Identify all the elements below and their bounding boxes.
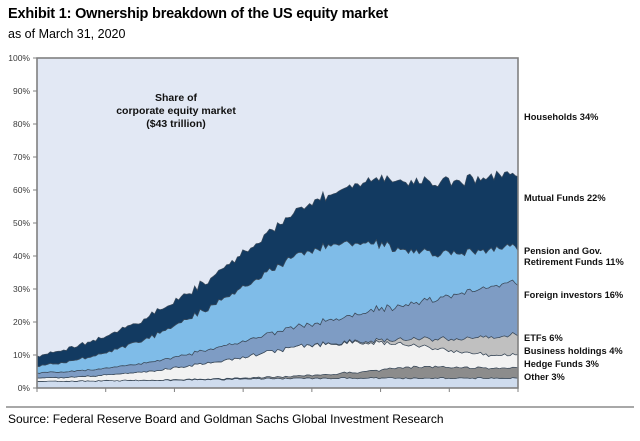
series-label-pension-line1: Pension and Gov. <box>524 246 602 256</box>
x-tick-label: 1980 <box>234 395 253 396</box>
series-labels-group: Households 34% Mutual Funds 22% Pension … <box>524 112 624 382</box>
x-tick-label: 2020 <box>509 395 528 396</box>
series-label-foreign-investors: Foreign investors 16% <box>524 290 624 300</box>
y-tick-label: 90% <box>13 86 30 96</box>
page-subtitle: as of March 31, 2020 <box>8 27 125 41</box>
source-note: Source: Federal Reserve Board and Goldma… <box>8 412 444 426</box>
y-tick-label: 70% <box>13 152 30 162</box>
y-tick-label: 10% <box>13 350 30 360</box>
annotation-line-3: ($43 trillion) <box>146 118 206 130</box>
y-tick-label: 0% <box>18 383 31 393</box>
y-tick-label: 50% <box>13 218 30 228</box>
y-tick-label: 60% <box>13 185 30 195</box>
y-tick-label: 40% <box>13 251 30 261</box>
x-tick-label: 1990 <box>302 395 321 396</box>
series-label-mutual-funds: Mutual Funds 22% <box>524 193 606 203</box>
series-label-other: Other 3% <box>524 372 566 382</box>
y-axis-tick-labels: 0%10%20%30%40%50%60%70%80%90%100% <box>8 53 30 393</box>
y-tick-label: 100% <box>8 53 30 63</box>
x-tick-label: 2000 <box>371 395 390 396</box>
x-tick-label: 1950 <box>28 395 47 396</box>
x-tick-label: 1970 <box>165 395 184 396</box>
x-axis-tick-labels: 19501960197019801990200020102020 <box>28 395 528 396</box>
y-tick-label: 80% <box>13 119 30 129</box>
y-tick-label: 30% <box>13 284 30 294</box>
y-tick-label: 20% <box>13 317 30 327</box>
series-label-etfs: ETFs 6% <box>524 333 563 343</box>
annotation-line-1: Share of <box>155 92 198 104</box>
x-tick-label: 2010 <box>440 395 459 396</box>
exhibit-container: Exhibit 1: Ownership breakdown of the US… <box>0 0 640 441</box>
series-label-business-holdings: Business holdings 4% <box>524 346 623 356</box>
annotation-line-2: corporate equity market <box>116 105 236 117</box>
series-label-households: Households 34% <box>524 112 599 122</box>
stacked-area-chart: 0%10%20%30%40%50%60%70%80%90%100% 195019… <box>0 48 640 396</box>
x-tick-label: 1960 <box>96 395 115 396</box>
source-divider <box>6 406 634 408</box>
series-label-pension-line2: Retirement Funds 11% <box>524 257 624 267</box>
chart-area: 0%10%20%30%40%50%60%70%80%90%100% 195019… <box>0 48 640 396</box>
page-title: Exhibit 1: Ownership breakdown of the US… <box>8 6 388 22</box>
series-label-hedge-funds: Hedge Funds 3% <box>524 359 600 369</box>
